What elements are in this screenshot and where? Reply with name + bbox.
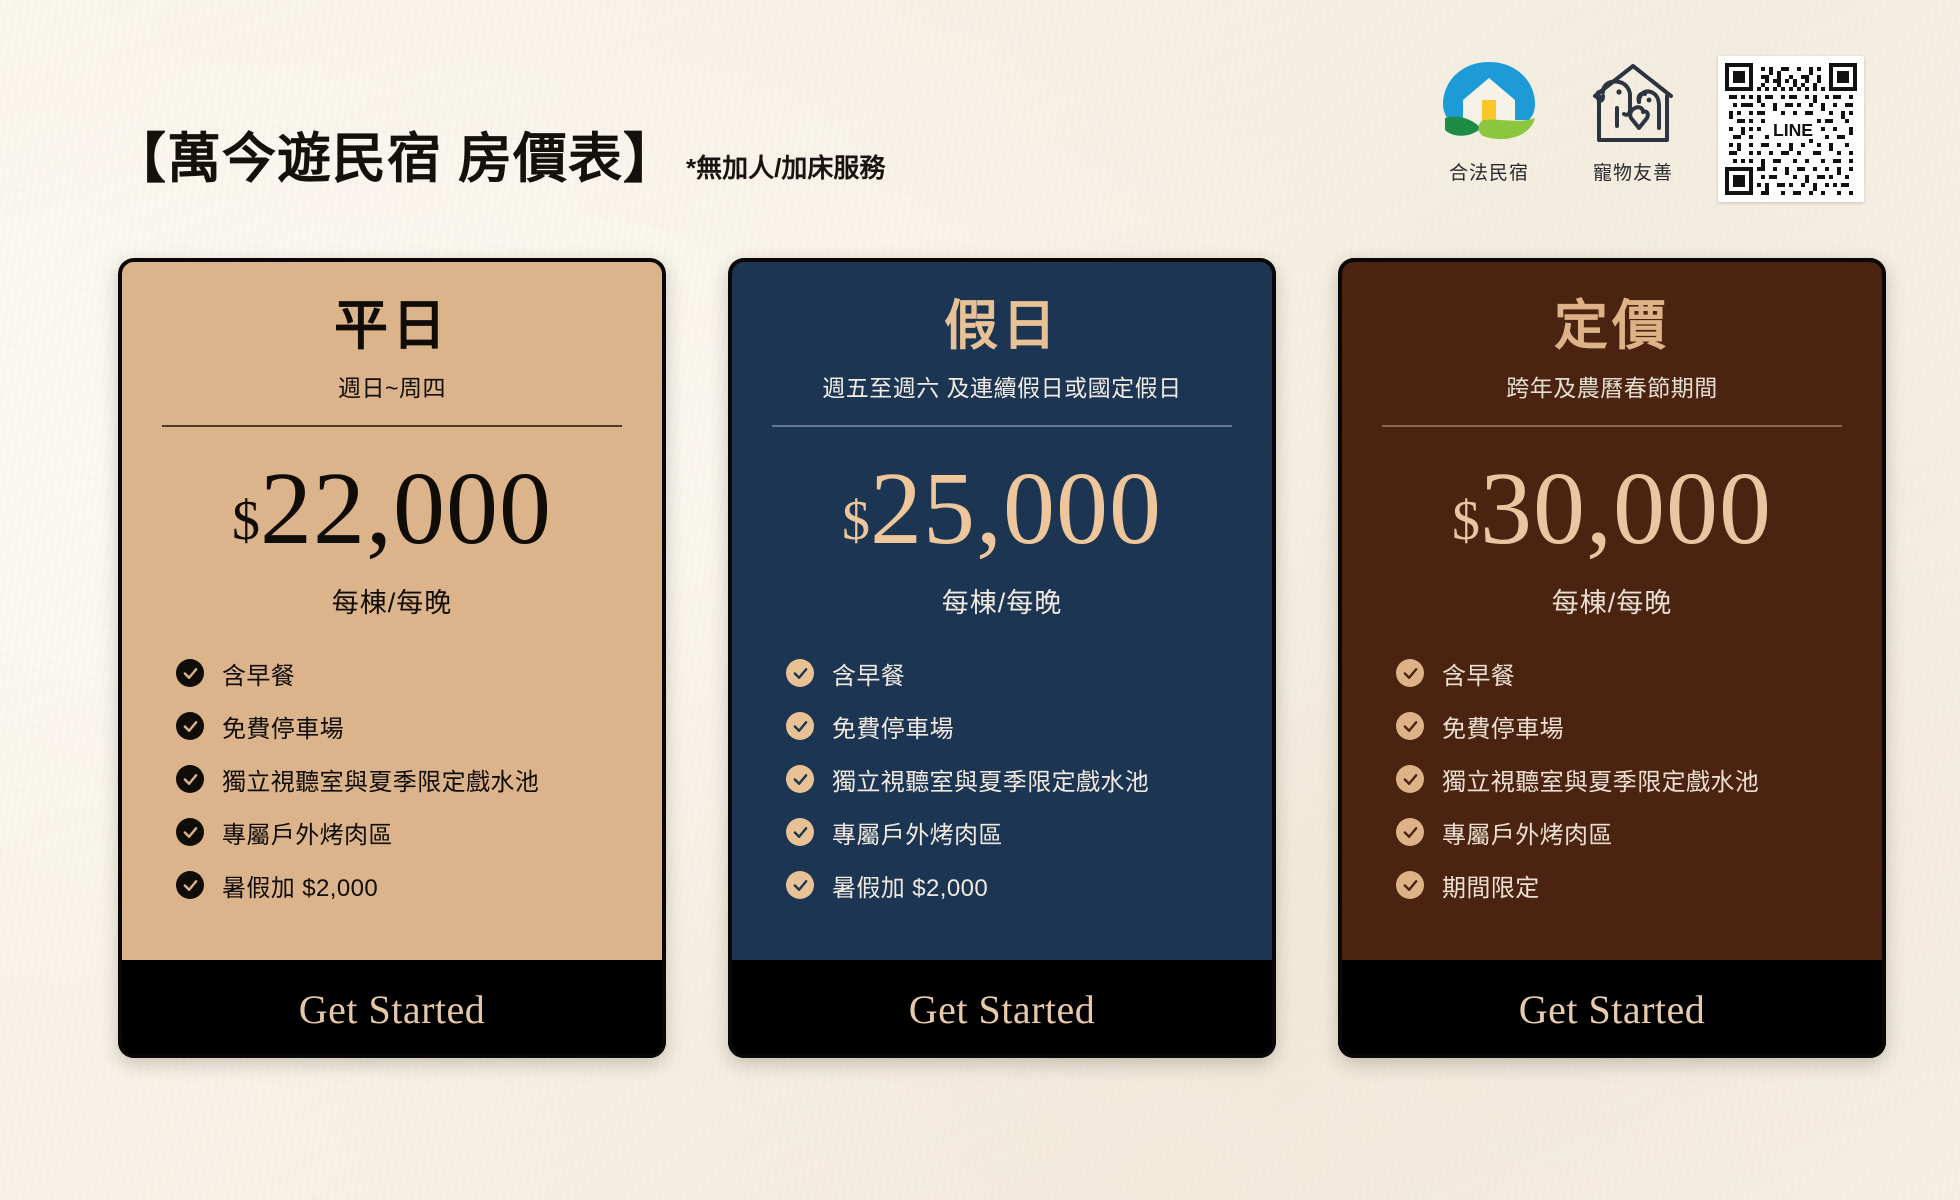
check-circle-icon bbox=[176, 871, 204, 899]
check-circle-icon bbox=[1396, 871, 1424, 899]
check-circle-icon bbox=[176, 818, 204, 846]
list-item: 獨立視聽室與夏季限定戲水池 bbox=[1382, 762, 1842, 797]
plan-name: 假日 bbox=[772, 298, 1232, 355]
legal-homestay-icon bbox=[1437, 56, 1541, 152]
badge-group: 合法民宿 寵物 bbox=[1430, 56, 1864, 202]
title-block: 【萬今遊民宿 房價表】 *無加人/加床服務 bbox=[112, 132, 885, 186]
pet-friendly-icon bbox=[1581, 56, 1685, 152]
card-divider bbox=[1382, 425, 1842, 427]
get-started-button[interactable]: Get Started bbox=[118, 960, 666, 1058]
feature-label: 含早餐 bbox=[1442, 656, 1515, 691]
check-circle-icon bbox=[786, 712, 814, 740]
feature-label: 專屬戶外烤肉區 bbox=[832, 815, 1003, 850]
price-unit: 每棟/每晚 bbox=[772, 581, 1232, 620]
list-item: 專屬戶外烤肉區 bbox=[772, 815, 1232, 850]
plan-description: 跨年及農曆春節期間 bbox=[1382, 369, 1842, 403]
badge-legal-homestay: 合法民宿 bbox=[1430, 56, 1548, 185]
card-body: 平日 週日~周四 $ 22,000 每棟/每晚 含早餐 bbox=[118, 258, 666, 960]
price-unit: 每棟/每晚 bbox=[162, 581, 622, 620]
feature-label: 免費停車場 bbox=[1442, 709, 1564, 744]
check-circle-icon bbox=[1396, 765, 1424, 793]
get-started-button[interactable]: Get Started bbox=[728, 960, 1276, 1058]
check-circle-icon bbox=[1396, 818, 1424, 846]
feature-list: 含早餐 免費停車場 獨立視聽室與夏季限定戲水池 bbox=[162, 656, 622, 903]
card-body: 定價 跨年及農曆春節期間 $ 30,000 每棟/每晚 含早餐 bbox=[1338, 258, 1886, 960]
badge-pet-friendly: 寵物友善 bbox=[1574, 56, 1692, 185]
feature-label: 免費停車場 bbox=[222, 709, 344, 744]
poster-header: 【萬今遊民宿 房價表】 *無加人/加床服務 合法民宿 bbox=[0, 0, 1960, 250]
price-amount: 30,000 bbox=[1480, 457, 1772, 561]
get-started-button[interactable]: Get Started bbox=[1338, 960, 1886, 1058]
price-row: $ 25,000 bbox=[772, 457, 1232, 561]
list-item: 含早餐 bbox=[772, 656, 1232, 691]
currency-symbol: $ bbox=[1452, 493, 1480, 549]
title-note: *無加人/加床服務 bbox=[686, 155, 885, 186]
plan-description: 週日~周四 bbox=[162, 369, 622, 403]
pricing-poster: 【萬今遊民宿 房價表】 *無加人/加床服務 合法民宿 bbox=[0, 0, 1960, 1200]
feature-label: 獨立視聽室與夏季限定戲水池 bbox=[832, 762, 1149, 797]
price-amount: 25,000 bbox=[870, 457, 1162, 561]
list-item: 免費停車場 bbox=[162, 709, 622, 744]
svg-text:LINE: LINE bbox=[1773, 120, 1813, 140]
list-item: 免費停車場 bbox=[772, 709, 1232, 744]
list-item: 暑假加 $2,000 bbox=[772, 868, 1232, 903]
plan-description: 週五至週六 及連續假日或國定假日 bbox=[772, 369, 1232, 403]
list-item: 暑假加 $2,000 bbox=[162, 868, 622, 903]
page-title: 【萬今遊民宿 房價表】 bbox=[112, 132, 678, 186]
check-circle-icon bbox=[1396, 659, 1424, 687]
check-circle-icon bbox=[786, 871, 814, 899]
list-item: 含早餐 bbox=[1382, 656, 1842, 691]
list-item: 獨立視聽室與夏季限定戲水池 bbox=[162, 762, 622, 797]
feature-label: 專屬戶外烤肉區 bbox=[1442, 815, 1613, 850]
pricing-card-holiday[interactable]: 假日 週五至週六 及連續假日或國定假日 $ 25,000 每棟/每晚 含早餐 bbox=[728, 258, 1276, 1058]
list-item: 含早餐 bbox=[162, 656, 622, 691]
feature-label: 專屬戶外烤肉區 bbox=[222, 815, 393, 850]
price-row: $ 30,000 bbox=[1382, 457, 1842, 561]
plan-name: 平日 bbox=[162, 298, 622, 355]
badge-pet-friendly-label: 寵物友善 bbox=[1593, 158, 1673, 185]
check-circle-icon bbox=[786, 765, 814, 793]
check-circle-icon bbox=[176, 659, 204, 687]
feature-label: 含早餐 bbox=[222, 656, 295, 691]
feature-label: 免費停車場 bbox=[832, 709, 954, 744]
feature-label: 獨立視聽室與夏季限定戲水池 bbox=[1442, 762, 1759, 797]
list-item: 專屬戶外烤肉區 bbox=[1382, 815, 1842, 850]
feature-list: 含早餐 免費停車場 獨立視聽室與夏季限定戲水池 bbox=[1382, 656, 1842, 903]
feature-label: 期間限定 bbox=[1442, 868, 1540, 903]
list-item: 免費停車場 bbox=[1382, 709, 1842, 744]
feature-label: 暑假加 $2,000 bbox=[832, 868, 988, 903]
card-divider bbox=[772, 425, 1232, 427]
price-row: $ 22,000 bbox=[162, 457, 622, 561]
check-circle-icon bbox=[786, 818, 814, 846]
card-body: 假日 週五至週六 及連續假日或國定假日 $ 25,000 每棟/每晚 含早餐 bbox=[728, 258, 1276, 960]
feature-label: 含早餐 bbox=[832, 656, 905, 691]
list-item: 專屬戶外烤肉區 bbox=[162, 815, 622, 850]
feature-label: 暑假加 $2,000 bbox=[222, 868, 378, 903]
check-circle-icon bbox=[176, 712, 204, 740]
list-item: 期間限定 bbox=[1382, 868, 1842, 903]
pricing-card-list: 平日 週日~周四 $ 22,000 每棟/每晚 含早餐 bbox=[118, 258, 1886, 1058]
check-circle-icon bbox=[786, 659, 814, 687]
price-amount: 22,000 bbox=[260, 457, 552, 561]
card-divider bbox=[162, 425, 622, 427]
price-unit: 每棟/每晚 bbox=[1382, 581, 1842, 620]
check-circle-icon bbox=[1396, 712, 1424, 740]
feature-label: 獨立視聽室與夏季限定戲水池 bbox=[222, 762, 539, 797]
pricing-card-peak[interactable]: 定價 跨年及農曆春節期間 $ 30,000 每棟/每晚 含早餐 bbox=[1338, 258, 1886, 1058]
list-item: 獨立視聽室與夏季限定戲水池 bbox=[772, 762, 1232, 797]
line-qr-code[interactable]: LINE bbox=[1718, 56, 1864, 202]
currency-symbol: $ bbox=[842, 493, 870, 549]
currency-symbol: $ bbox=[232, 493, 260, 549]
pricing-card-weekday[interactable]: 平日 週日~周四 $ 22,000 每棟/每晚 含早餐 bbox=[118, 258, 666, 1058]
plan-name: 定價 bbox=[1382, 298, 1842, 355]
feature-list: 含早餐 免費停車場 獨立視聽室與夏季限定戲水池 bbox=[772, 656, 1232, 903]
check-circle-icon bbox=[176, 765, 204, 793]
badge-legal-homestay-label: 合法民宿 bbox=[1449, 158, 1529, 185]
